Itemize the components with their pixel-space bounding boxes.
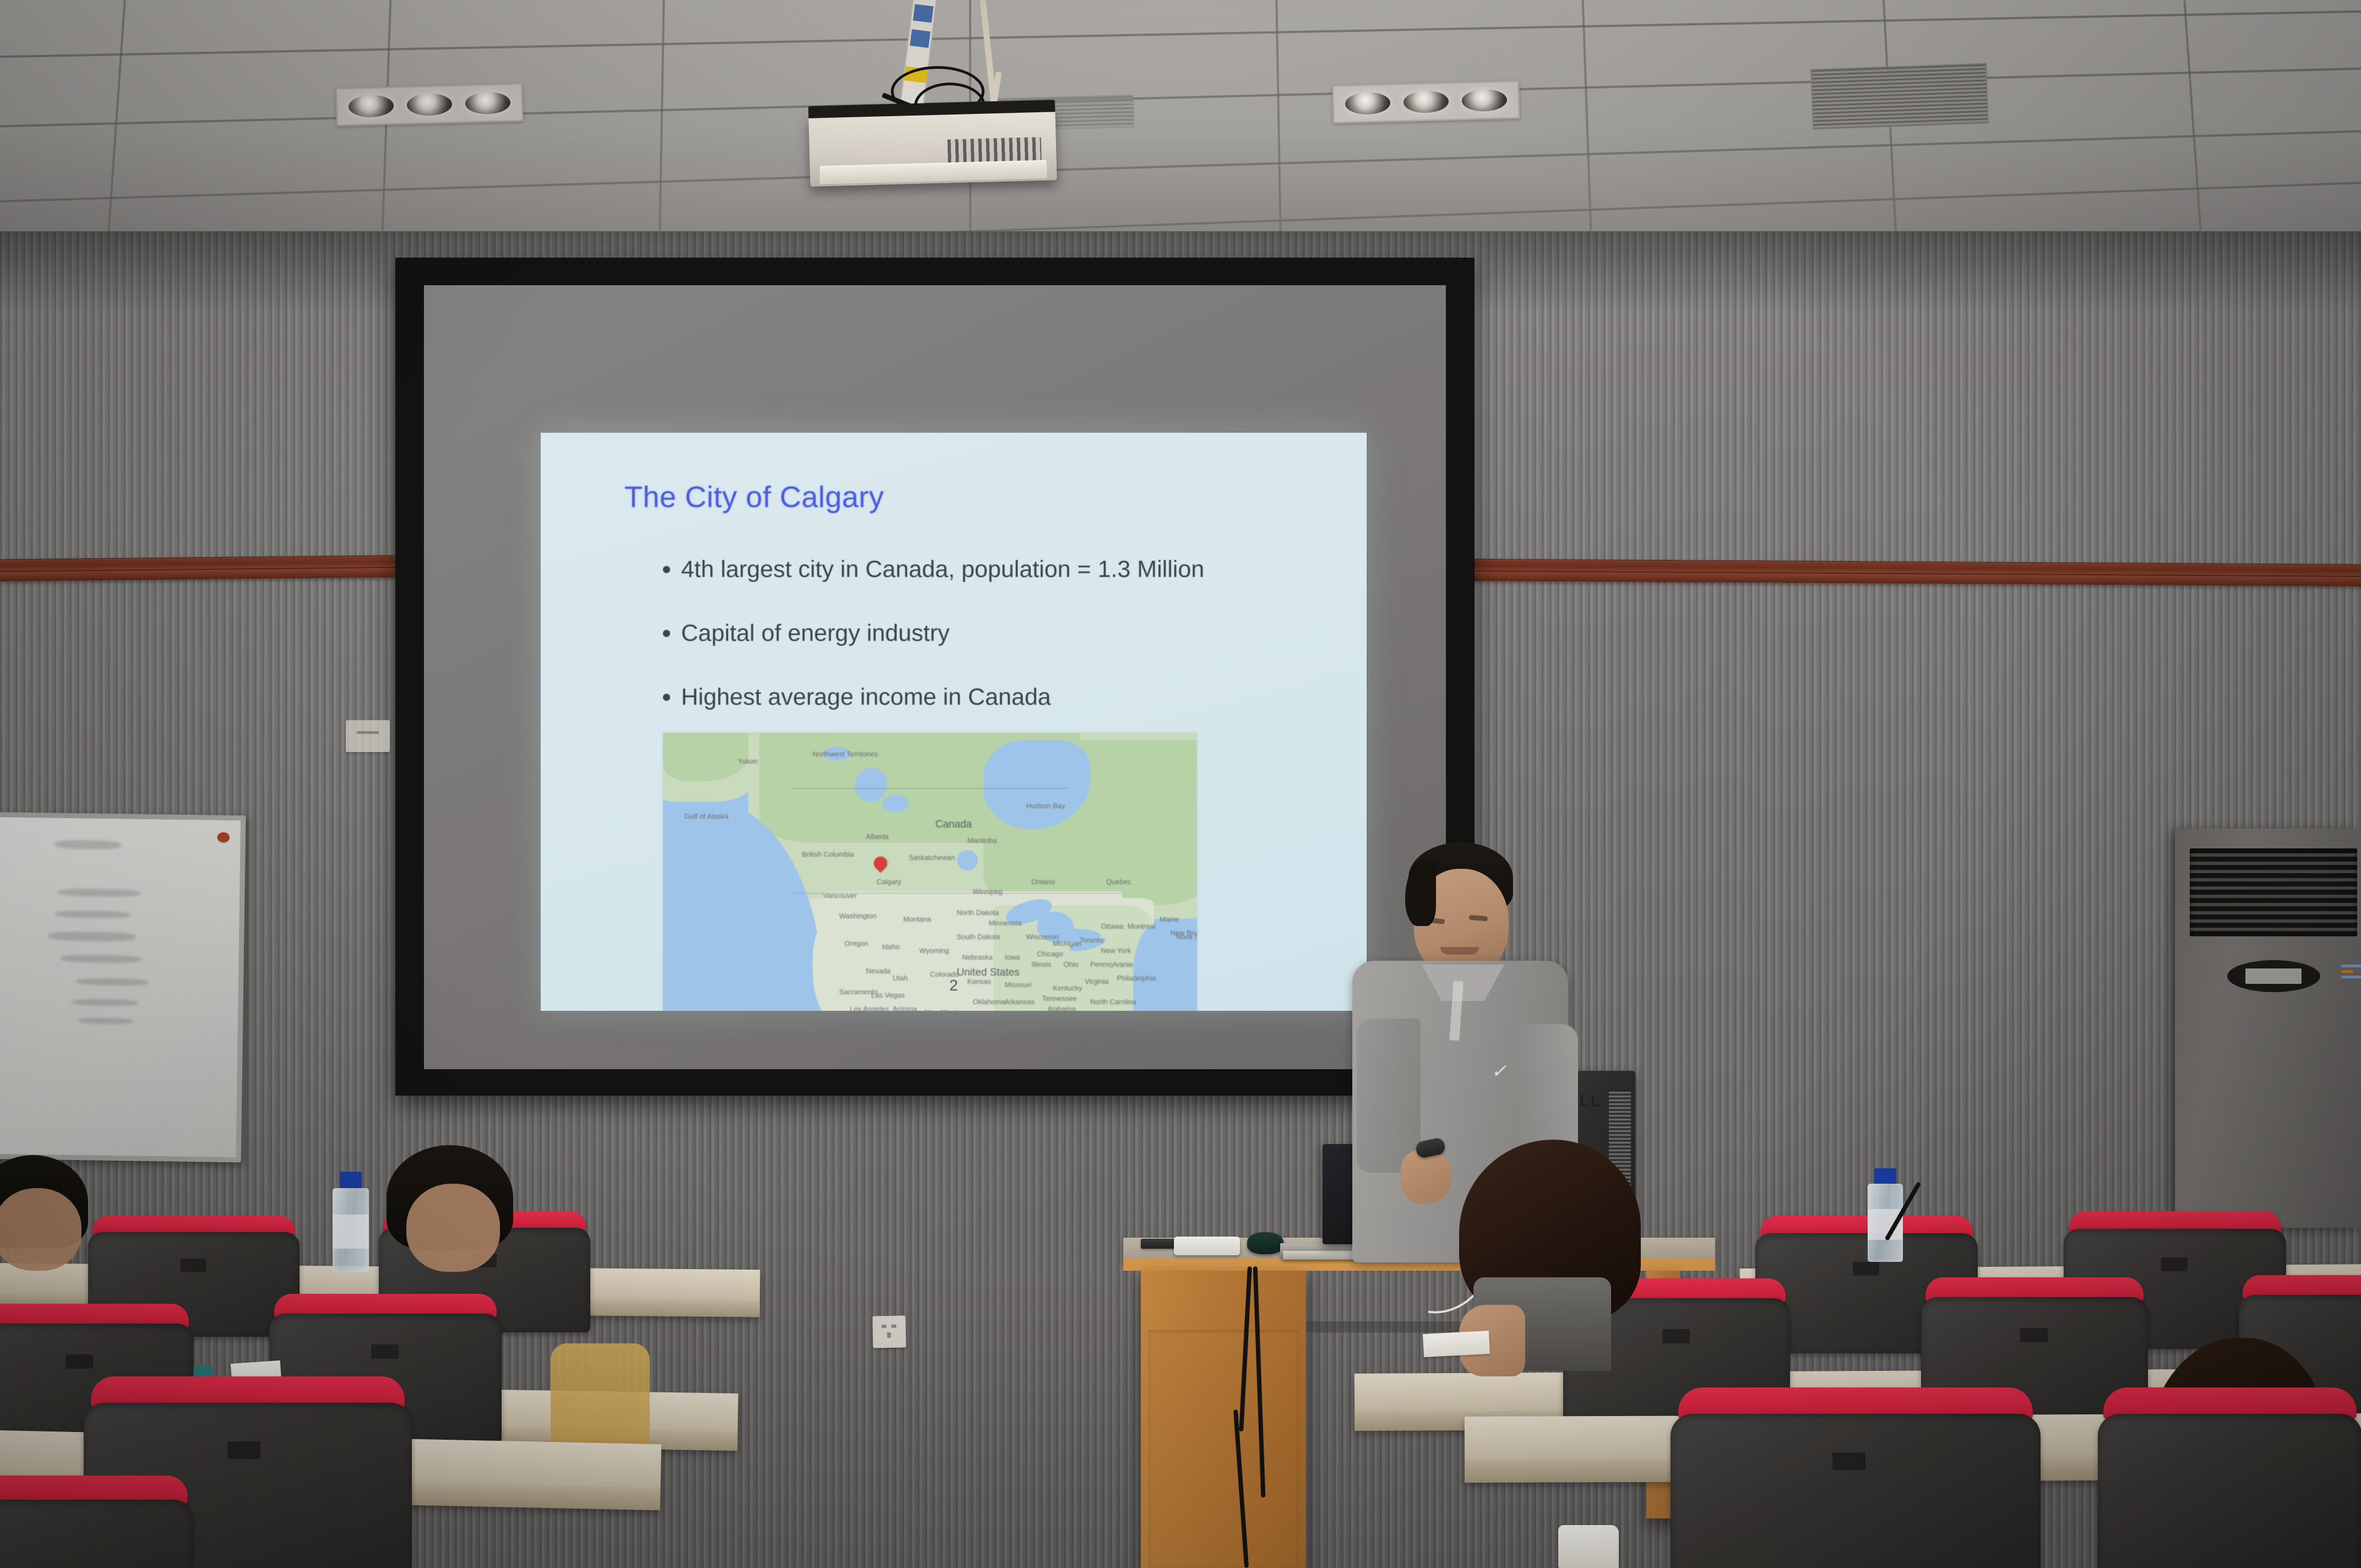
list-item: Capital of energy industry (663, 620, 1340, 647)
map-label: British Columbia (802, 850, 854, 858)
power-outlet[interactable] (872, 1315, 906, 1348)
projection-screen-frame: The City of Calgary 4th largest city in … (395, 258, 1475, 1096)
map-label: North Carolina (1090, 998, 1136, 1006)
ac-vent-louvers (2190, 848, 2357, 937)
wall-wood-trim-left (0, 555, 402, 581)
map-label: Vancouver (823, 891, 857, 900)
slide-title: The City of Calgary (624, 480, 884, 514)
bullet-dot (663, 630, 670, 637)
map-label: Montreal (1128, 922, 1156, 930)
bullet-text: Capital of energy industry (681, 620, 950, 647)
chair[interactable] (2092, 1387, 2361, 1568)
map-label: Toronto (1080, 936, 1103, 944)
map-label: Manitoba (967, 836, 997, 845)
map-label: Pennsylvania (1090, 960, 1133, 968)
map-label: Kentucky (1053, 984, 1082, 992)
map-label: Iowa (1005, 953, 1020, 961)
map-label: Michigan (1053, 939, 1081, 948)
bullet-text: 4th largest city in Canada, population =… (681, 556, 1204, 583)
air-conditioner[interactable] (2175, 829, 2361, 1228)
bullet-dot (663, 694, 670, 701)
map-label: Minnesota (989, 919, 1022, 927)
ac-display-panel[interactable] (2227, 960, 2320, 992)
map-label: Arizona (893, 1005, 917, 1011)
map-label: Hudson Bay (1026, 802, 1065, 810)
map-label: Alabama (1047, 1005, 1075, 1011)
ceiling-air-vent (1810, 63, 1989, 129)
map-label: Wyoming (920, 946, 949, 955)
map-label: Calgary (877, 878, 901, 886)
map-label: Ohio (1064, 960, 1079, 968)
ceiling (0, 0, 2361, 231)
map-label: Northwest Territories (813, 750, 878, 758)
ceiling-projector (808, 110, 1057, 187)
whiteboard[interactable] (0, 812, 246, 1163)
map-label: Ottawa (1101, 922, 1123, 930)
map-label: Gulf of Alaska (684, 812, 728, 820)
ceiling-spotlight-fixture (1332, 80, 1520, 124)
bullet-text: Highest average income in Canada (681, 684, 1051, 711)
tissue[interactable] (1558, 1525, 1619, 1568)
map-label: South Dakota (957, 933, 1000, 941)
map-label: Virginia (1085, 977, 1108, 986)
map-label: Utah (893, 974, 907, 982)
paper-sheets[interactable] (1423, 1331, 1490, 1357)
north-america-map: Northwest TerritoriesYukonGulf of Alaska… (663, 733, 1197, 1011)
map-label: Nebraska (962, 953, 993, 961)
chair[interactable] (0, 1476, 198, 1568)
map-label: Alberta (866, 832, 889, 841)
map-label: Quebec (1106, 878, 1131, 886)
ceiling-spotlight-fixture (335, 83, 524, 127)
map-label: Los Angeles (850, 1005, 889, 1011)
wall-plate (346, 720, 390, 752)
slide-bullet-list: 4th largest city in Canada, population =… (663, 556, 1340, 711)
podium-front-panel (1149, 1330, 1298, 1568)
lecture-hall-scene: The City of Calgary 4th largest city in … (0, 0, 2361, 1568)
presentation-slide: The City of Calgary 4th largest city in … (541, 433, 1367, 1011)
map-label: Philadelphia (1117, 974, 1156, 982)
map-label: Oregon (845, 939, 868, 948)
map-label: Missouri (1005, 981, 1031, 989)
ac-brand-logo (2341, 965, 2361, 981)
computer-mouse[interactable] (1247, 1232, 1283, 1254)
map-label: Kansas (967, 977, 991, 986)
list-item: Highest average income in Canada (663, 684, 1340, 711)
map-label: Montana (904, 915, 932, 923)
map-label: New York (1101, 946, 1131, 955)
projection-screen-surface: The City of Calgary 4th largest city in … (424, 285, 1446, 1069)
water-bottle[interactable] (333, 1172, 369, 1272)
map-label: Washington (839, 912, 877, 920)
slide-number: 2 (949, 977, 958, 994)
ac-display-readout (2245, 968, 2301, 984)
map-label: Nevada (866, 967, 891, 975)
map-label: New Mexico (924, 1008, 964, 1011)
map-label: Idaho (882, 943, 900, 951)
map-label: Canada (935, 819, 972, 831)
whiteboard-magnet[interactable] (217, 832, 230, 842)
shirt-brand-logo: ✓ (1491, 1060, 1507, 1082)
map-label: Illinois (1031, 960, 1051, 968)
map-label: Oklahoma (973, 998, 1005, 1006)
student (0, 1155, 99, 1282)
map-label: Saskatchewan (909, 853, 955, 862)
list-item: 4th largest city in Canada, population =… (663, 556, 1340, 583)
map-label: Chicago (1037, 950, 1063, 958)
projector-lens (820, 160, 1047, 184)
map-label: Winnipeg (973, 888, 1003, 896)
map-label: Maine (1160, 915, 1179, 923)
map-label: Las Vegas (871, 991, 905, 999)
map-label: Ontario (1031, 878, 1055, 886)
chair[interactable] (1663, 1387, 2048, 1568)
bullet-dot (663, 566, 670, 573)
map-label: North Dakota (957, 908, 999, 917)
map-label: Nova Scotia (1176, 933, 1197, 941)
map-label: Tennessee (1042, 994, 1077, 1003)
student (387, 1145, 524, 1283)
map-label: Arkansas (1005, 998, 1035, 1006)
power-adapter[interactable] (1174, 1237, 1240, 1255)
map-label: Yukon (738, 757, 758, 765)
